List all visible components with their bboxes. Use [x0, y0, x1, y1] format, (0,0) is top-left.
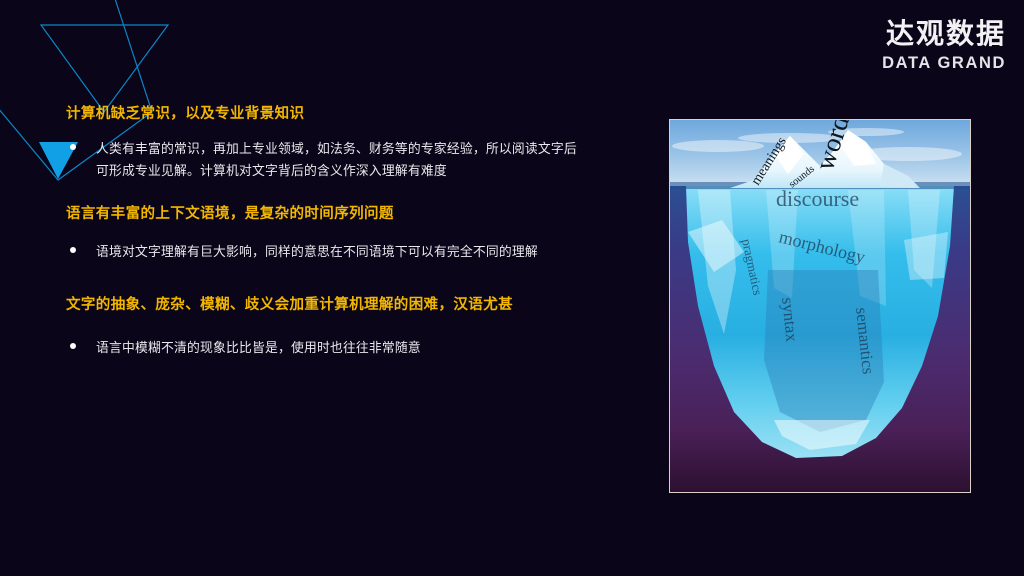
bullet-text: 语言中模糊不清的现象比比皆是，使用时也往往非常随意 — [96, 337, 421, 359]
iceberg-illustration: words meanings sounds discourse morpholo… — [670, 120, 970, 492]
logo-chinese-name: 达观数据 — [882, 20, 1006, 48]
content-block: 语言有丰富的上下文语境，是复杂的时间序列问题 语境对文字理解有巨大影响，同样的意… — [66, 204, 586, 262]
logo-english-name: DATA GRAND — [882, 55, 1006, 72]
iceberg-image: words meanings sounds discourse morpholo… — [669, 119, 971, 493]
content-block: 文字的抽象、庞杂、模糊、歧义会加重计算机理解的困难，汉语尤甚 语言中模糊不清的现… — [66, 295, 586, 359]
outline-triangle-large — [41, 25, 168, 112]
slide-content: 计算机缺乏常识，以及专业背景知识 人类有丰富的常识，再加上专业领域，如法务、财务… — [66, 104, 586, 361]
bullet-item: 语境对文字理解有巨大影响，同样的意思在不同语境下可以有完全不同的理解 — [66, 241, 586, 263]
brand-logo: 达观数据 DATA GRAND — [882, 20, 1006, 72]
presentation-slide: 达观数据 DATA GRAND 计算机缺乏常识，以及专业背景知识 人类有丰富的常… — [0, 0, 1024, 576]
bullet-item: 语言中模糊不清的现象比比皆是，使用时也往往非常随意 — [66, 337, 586, 359]
bullet-dot-icon — [70, 144, 76, 150]
bullet-dot-icon — [70, 343, 76, 349]
block-heading: 计算机缺乏常识，以及专业背景知识 — [66, 104, 586, 124]
bullet-item: 人类有丰富的常识，再加上专业领域，如法务、财务等的专家经验，所以阅读文字后可形成… — [66, 138, 586, 182]
block-heading: 语言有丰富的上下文语境，是复杂的时间序列问题 — [66, 204, 586, 224]
content-block: 计算机缺乏常识，以及专业背景知识 人类有丰富的常识，再加上专业领域，如法务、财务… — [66, 104, 586, 182]
bullet-text: 人类有丰富的常识，再加上专业领域，如法务、财务等的专家经验，所以阅读文字后可形成… — [96, 138, 586, 182]
bullet-dot-icon — [70, 247, 76, 253]
bullet-text: 语境对文字理解有巨大影响，同样的意思在不同语境下可以有完全不同的理解 — [96, 241, 538, 263]
block-heading: 文字的抽象、庞杂、模糊、歧义会加重计算机理解的困难，汉语尤甚 — [66, 295, 586, 315]
iceberg-label-discourse: discourse — [776, 186, 859, 211]
